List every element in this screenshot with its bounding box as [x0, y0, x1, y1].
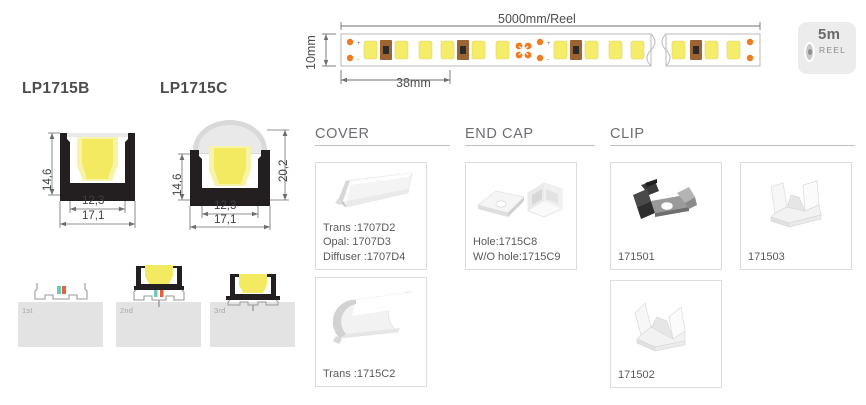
caption-line: Trans :1715C2 [323, 367, 422, 382]
caption-line: W/O hole:1715C9 [473, 250, 572, 265]
caption-line: 171502 [618, 368, 717, 383]
step-2-drawing [126, 264, 192, 309]
cover-flat-photo [316, 163, 426, 225]
reel-spool-icon [804, 42, 815, 62]
caption-line: Trans :1707D2 [323, 221, 422, 236]
strip-illustration: + - + [300, 0, 800, 100]
step-1-drawing [33, 279, 89, 305]
caption-line: 171503 [748, 250, 847, 265]
profiles-panel: LP1715B LP1715C [0, 0, 300, 405]
svg-text:-: - [547, 57, 549, 63]
dim-lp1715b-outer-width: 17,1 [82, 210, 104, 222]
cover-round-photo [316, 286, 426, 364]
model-title-lp1715c: LP1715C [160, 80, 228, 98]
svg-text:+: + [357, 41, 361, 47]
card-clip-clear-b[interactable]: 171502 [610, 280, 722, 388]
model-title-lp1715b: LP1715B [22, 80, 90, 98]
card-clip-clear-b-caption: 171502 [618, 368, 717, 383]
led-strip-diagram: 5000mm/Reel 10mm 38mm [300, 0, 866, 112]
plastic-clip-photo [611, 291, 721, 355]
card-endcap-caption: Hole:1715C8 W/O hole:1715C9 [473, 235, 572, 264]
section-clip-rule [610, 145, 855, 146]
caption-line: Diffuser :1707D4 [323, 250, 422, 265]
section-cover-heading: COVER [315, 126, 450, 145]
dim-lp1715b-inner-width: 12,3 [82, 195, 104, 207]
section-endcap-heading: END CAP [465, 126, 595, 145]
step-2-label: 2nd [120, 306, 133, 315]
card-cover-round[interactable]: Trans :1715C2 [315, 277, 427, 387]
caption-line: Opal: 1707D3 [323, 235, 422, 250]
section-cover-rule [315, 145, 450, 146]
card-clip-metal[interactable]: 171501 [610, 162, 722, 270]
reel-size-label: 5m [818, 26, 840, 43]
profile-drawing-lp1715c: 14,6 20,2 12,3 17,1 [165, 120, 300, 230]
card-cover-flat[interactable]: Trans :1707D2 Opal: 1707D3 Diffuser :170… [315, 162, 427, 270]
reel-unit-label: REEL [819, 45, 846, 55]
dim-lp1715c-height: 14,6 [172, 174, 184, 196]
spec-sheet-page: LP1715B LP1715C [0, 0, 866, 405]
section-clip: CLIP [610, 126, 855, 146]
dim-lp1715c-total-height: 20,2 [278, 160, 290, 182]
card-clip-clear-a-caption: 171503 [748, 250, 847, 265]
dim-lp1715c-inner-width: 12,3 [214, 200, 236, 212]
step-1-label: 1st [22, 306, 33, 315]
dim-lp1715b-height: 14,6 [42, 169, 54, 191]
plastic-clip-photo [741, 173, 851, 237]
end-cap-photo [466, 169, 576, 235]
section-endcap: END CAP [465, 126, 595, 146]
installation-steps: 1st 2nd [0, 262, 300, 347]
card-clip-metal-caption: 171501 [618, 250, 717, 265]
caption-line: 171501 [618, 250, 717, 265]
profile-drawing-lp1715b: 14,6 12,3 17,1 [30, 125, 160, 230]
section-clip-heading: CLIP [610, 126, 855, 145]
card-cover-flat-caption: Trans :1707D2 Opal: 1707D3 Diffuser :170… [323, 221, 422, 265]
svg-text:+: + [547, 41, 551, 47]
metal-clip-photo [611, 171, 721, 237]
svg-text:-: - [357, 57, 359, 63]
dim-lp1715c-outer-width: 17,1 [214, 214, 236, 226]
caption-line: Hole:1715C8 [473, 235, 572, 250]
card-clip-clear-a[interactable]: 171503 [740, 162, 852, 270]
card-cover-round-caption: Trans :1715C2 [323, 367, 422, 382]
section-endcap-rule [465, 145, 595, 146]
step-3-drawing [218, 272, 288, 312]
step-3-label: 3rd [214, 306, 225, 315]
card-endcap[interactable]: Hole:1715C8 W/O hole:1715C9 [465, 162, 577, 270]
reel-badge: 5m REEL [798, 22, 856, 74]
section-cover: COVER [315, 126, 450, 146]
